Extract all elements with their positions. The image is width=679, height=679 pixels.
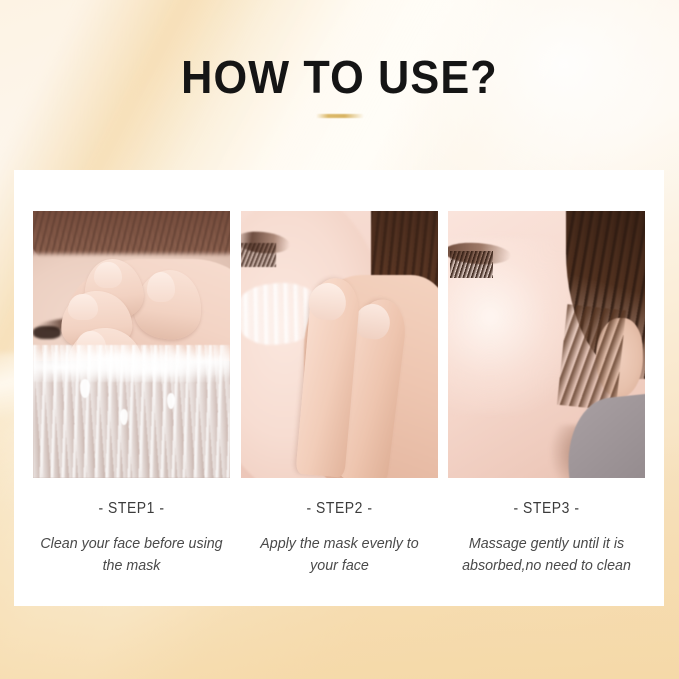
step-item-1: - STEP1 - Clean your face before using t… [33,211,230,577]
step-photo-1 [33,211,230,478]
photo1-eye [33,326,61,339]
photo1-water-droplet [167,393,175,409]
step-label-3: - STEP3 - [458,500,635,518]
step-item-2: - STEP2 - Apply the mask evenly to your … [241,211,438,577]
steps-card: - STEP1 - Clean your face before using t… [14,170,664,606]
photo3-eyelashes [450,251,493,278]
photo3-hair-strands [557,304,626,411]
photo1-fingernail-2 [68,294,98,321]
step-photo-2 [241,211,438,478]
step-label-2: - STEP2 - [250,500,427,518]
page-title: HOW TO USE? [20,52,658,102]
photo1-water-splash [33,345,230,382]
step-caption-2: Apply the mask evenly to your face [245,533,432,577]
title-underline-accent [316,114,364,118]
photo2-eyelashes [241,243,276,267]
how-to-use-infographic: HOW TO USE? [0,0,679,679]
photo1-fingernail-1 [94,262,122,289]
steps-row: - STEP1 - Clean your face before using t… [33,211,645,577]
step-caption-3: Massage gently until it is absorbed,no n… [453,533,640,577]
step-photo-3 [448,211,645,478]
step-caption-1: Clean your face before using the mask [38,533,225,577]
step-item-3: - STEP3 - Massage gently until it is abs… [448,211,645,577]
photo1-water-droplet [120,409,128,425]
step-label-1: - STEP1 - [43,500,220,518]
photo1-fingernail-4 [147,272,175,301]
